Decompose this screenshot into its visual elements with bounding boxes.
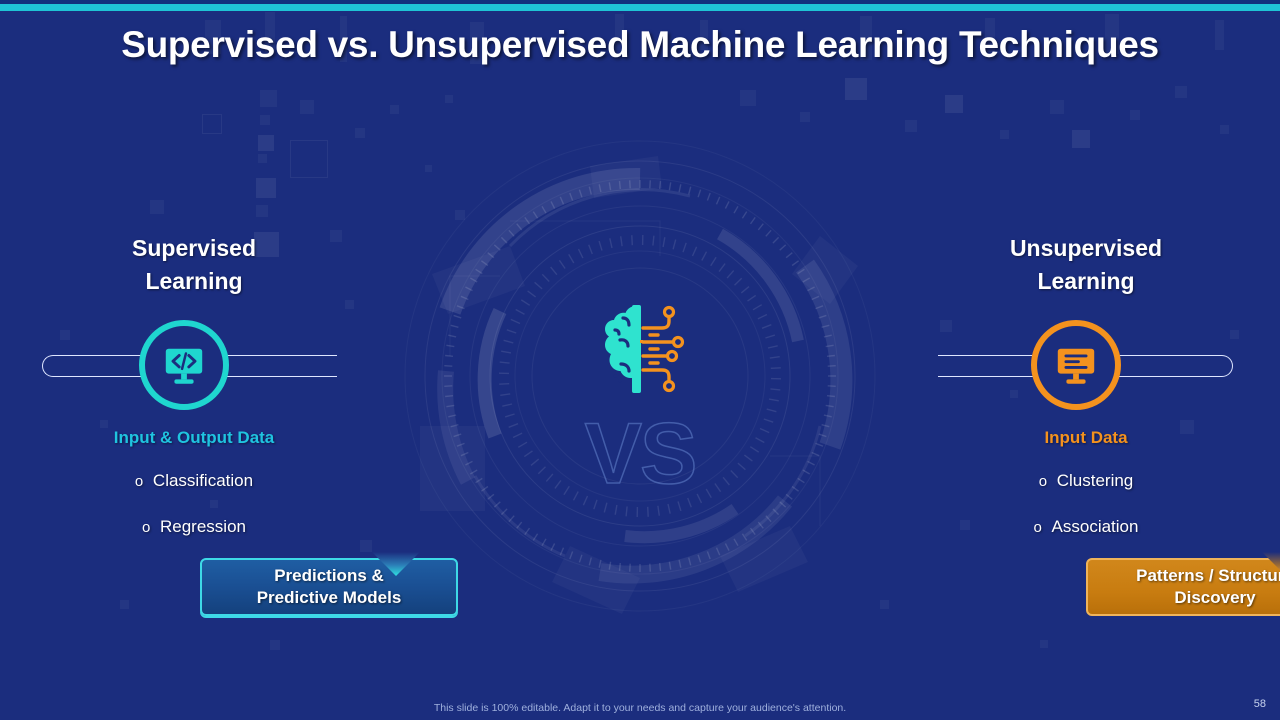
supervised-icon-circle[interactable] [139,320,229,410]
supervised-outcome-line2: Predictive Models [257,587,402,609]
unsupervised-outcome-box[interactable]: Patterns / Structure Discovery [1086,558,1280,616]
bullet-marker: o [1034,505,1052,550]
unsupervised-outcome-line2: Discovery [1136,587,1280,609]
unsupervised-outcome-line1: Patterns / Structure [1136,565,1280,587]
unsupervised-heading: Unsupervised Learning [886,232,1280,298]
list-item: oRegression [0,504,394,550]
supervised-heading-line2: Learning [0,265,394,298]
center-graphic [588,300,698,400]
page-title: Supervised vs. Unsupervised Machine Lear… [0,24,1280,66]
down-arrow-icon [1262,552,1280,576]
brain-circuit-icon [588,300,698,400]
list-item-label: Association [1052,517,1139,536]
unsupervised-icon-circle[interactable] [1031,320,1121,410]
unsupervised-badge-row [886,320,1280,412]
top-accent-bar-cyan [0,4,1280,11]
down-arrow-icon [372,552,420,576]
supervised-badge-row [0,320,394,412]
code-monitor-icon [161,342,207,388]
list-item-label: Regression [160,517,246,536]
page-number: 58 [1254,698,1266,710]
document-monitor-icon [1053,342,1099,388]
footer-note: This slide is 100% editable. Adapt it to… [0,702,1280,714]
vs-label: VS [0,405,1280,504]
unsupervised-heading-line1: Unsupervised [886,232,1280,265]
bullet-marker: o [142,505,160,550]
unsupervised-heading-line2: Learning [886,265,1280,298]
supervised-heading-line1: Supervised [0,232,394,265]
list-item: oAssociation [886,504,1280,550]
supervised-heading: Supervised Learning [0,232,394,298]
slide-canvas: Supervised vs. Unsupervised Machine Lear… [0,0,1280,720]
